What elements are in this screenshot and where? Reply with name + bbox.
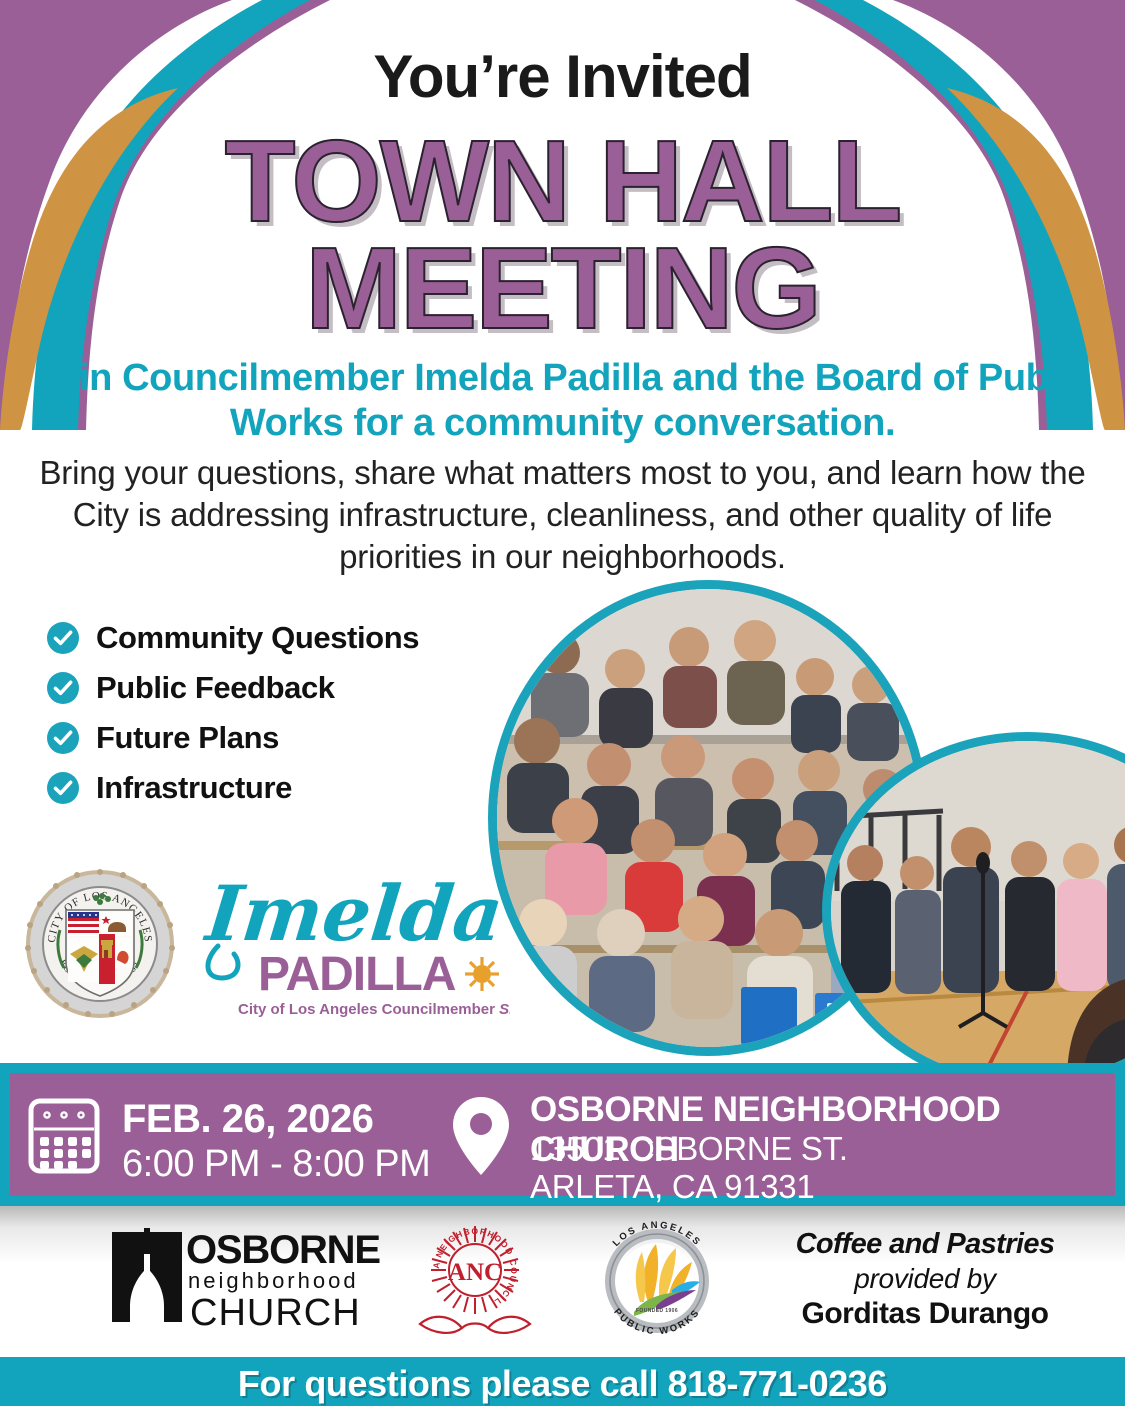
event-date: FEB. 26, 2026 bbox=[122, 1097, 373, 1142]
map-pin-icon bbox=[450, 1095, 512, 1177]
list-item: Infrastructure bbox=[46, 770, 516, 806]
bpw-founded-text: FOUNDED 1906 bbox=[636, 1308, 678, 1314]
venue-address-line-2: ARLETA, CA 91331 bbox=[530, 1168, 814, 1206]
church-name-line-1: OSBORNE bbox=[186, 1228, 380, 1273]
catering-credit: Coffee and Pastries provided by Gorditas… bbox=[745, 1228, 1105, 1331]
anc-flourish bbox=[420, 1317, 530, 1333]
check-circle-icon bbox=[46, 721, 80, 755]
body-paragraph: Bring your questions, share what matters… bbox=[34, 452, 1091, 579]
councilmember-tagline: City of Los Angeles Councilmember Sixth … bbox=[238, 1001, 510, 1018]
flyer-page: You’re Invited TOWN HALL MEETING Join Co… bbox=[0, 0, 1125, 1406]
event-details-panel: FEB. 26, 2026 6:00 PM - 8:00 PM OSBORNE … bbox=[10, 1073, 1115, 1196]
venue-address-line-1: 13501 OSBORNE ST. bbox=[530, 1130, 848, 1168]
lead-paragraph: Join Councilmember Imelda Padilla and th… bbox=[26, 356, 1099, 446]
check-circle-icon bbox=[46, 621, 80, 655]
city-of-los-angeles-seal: CITY OF LOS ANGELES FOUNDED · 1781 bbox=[24, 868, 176, 1020]
event-details-bar: FEB. 26, 2026 6:00 PM - 8:00 PM OSBORNE … bbox=[0, 1063, 1125, 1206]
catering-line-2: provided by bbox=[745, 1263, 1105, 1295]
councilmember-logo: Imelda PADILLA bbox=[200, 866, 510, 1024]
eyebrow-text: You’re Invited bbox=[0, 42, 1125, 111]
la-board-of-public-works-logo: FOUNDED 1906 LOS ANGELES PUBLIC WORKS bbox=[590, 1220, 725, 1342]
page-title: TOWN HALL MEETING bbox=[0, 128, 1125, 341]
councilmember-script-name: Imelda bbox=[200, 868, 507, 958]
list-item-label: Community Questions bbox=[96, 620, 419, 656]
church-doors-icon bbox=[108, 1228, 186, 1326]
catering-line-1: Coffee and Pastries bbox=[745, 1228, 1105, 1261]
list-item-label: Future Plans bbox=[96, 720, 279, 756]
anc-monogram: ANC bbox=[448, 1259, 502, 1286]
arleta-neighborhood-council-logo: ANC ARLETA NEIGHBORHOOD COUNCIL bbox=[400, 1220, 550, 1340]
list-item-label: Infrastructure bbox=[96, 770, 292, 806]
osborne-neighborhood-church-logo: OSBORNE neighborhood CHURCH bbox=[108, 1228, 358, 1328]
contact-phone-text: For questions please call 818-771-0236 bbox=[0, 1363, 1125, 1405]
list-item: Future Plans bbox=[46, 720, 516, 756]
catering-line-3: Gorditas Durango bbox=[745, 1297, 1105, 1331]
photo-collage bbox=[470, 572, 1125, 1062]
calendar-icon bbox=[28, 1098, 100, 1174]
event-time: 6:00 PM - 8:00 PM bbox=[122, 1143, 430, 1186]
sponsor-strip: OSBORNE neighborhood CHURCH bbox=[0, 1206, 1125, 1357]
list-item: Public Feedback bbox=[46, 670, 516, 706]
church-name-line-2: neighborhood bbox=[188, 1268, 359, 1294]
town-hall-speaker-photo bbox=[822, 732, 1125, 1090]
branding-row: CITY OF LOS ANGELES FOUNDED · 1781 bbox=[24, 866, 504, 1026]
check-circle-icon bbox=[46, 771, 80, 805]
list-item-label: Public Feedback bbox=[96, 670, 335, 706]
councilmember-last-name: PADILLA bbox=[258, 948, 456, 1001]
checklist: Community Questions Public Feedback Futu… bbox=[46, 620, 516, 820]
church-name-line-3: CHURCH bbox=[190, 1292, 361, 1335]
contact-bar: For questions please call 818-771-0236 bbox=[0, 1357, 1125, 1406]
list-item: Community Questions bbox=[46, 620, 516, 656]
check-circle-icon bbox=[46, 671, 80, 705]
page-title-line-2: MEETING bbox=[0, 235, 1125, 342]
sunburst-icon bbox=[465, 957, 499, 991]
